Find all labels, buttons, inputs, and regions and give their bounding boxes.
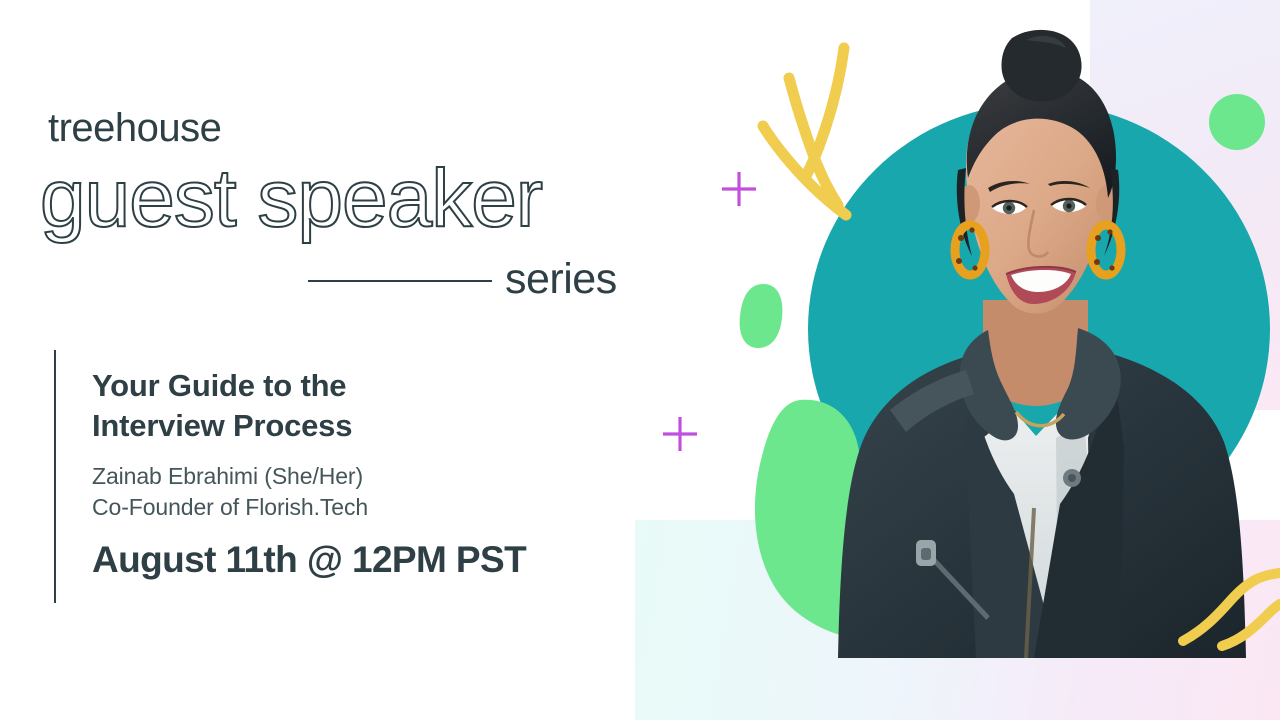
- talk-details: Your Guide to the Interview Process Zain…: [92, 366, 612, 618]
- green-bean-blob: [740, 284, 783, 348]
- speaker-portrait: [820, 18, 1260, 658]
- magenta-plus-icon-bottom: [663, 417, 697, 451]
- text-column: treehouse guest speaker series Your Guid…: [0, 0, 660, 720]
- series-label: series: [505, 255, 617, 304]
- event-datetime: August 11th @ 12PM PST: [92, 539, 612, 581]
- headline-outline-text: guest speaker: [40, 158, 542, 240]
- promo-slide: treehouse guest speaker series Your Guid…: [0, 0, 1280, 720]
- speaker-name: Zainab Ebrahimi (She/Her): [92, 461, 612, 492]
- detail-vertical-rule: [54, 350, 56, 603]
- talk-title-line-2: Interview Process: [92, 406, 612, 446]
- talk-title-line-1: Your Guide to the: [92, 366, 612, 406]
- speaker-role: Co-Founder of Florish.Tech: [92, 492, 612, 523]
- magenta-plus-icon-top: [722, 172, 756, 206]
- series-divider-rule: [308, 280, 492, 282]
- brand-wordmark: treehouse: [48, 106, 221, 151]
- earring-right: [1091, 225, 1121, 275]
